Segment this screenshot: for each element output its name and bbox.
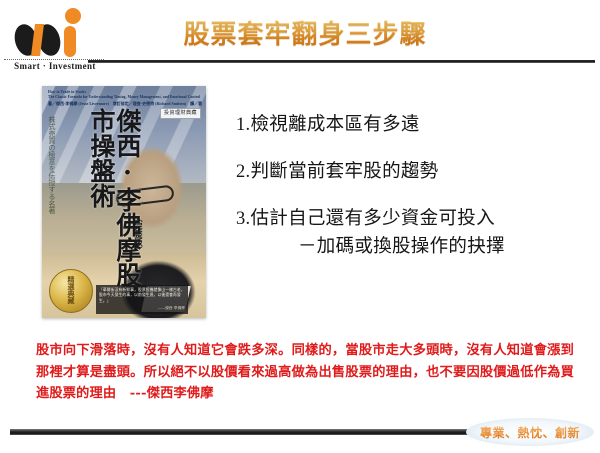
step-subtext: －加碼或換股操作的抉擇 xyxy=(236,235,586,259)
footer-divider xyxy=(10,429,490,435)
list-item: 3.估計自己還有多少資金可投入 －加碼或換股操作的抉擇 xyxy=(236,206,586,259)
step-number: 2. xyxy=(236,162,250,182)
book-english-title-line1: How to Trade in Stocks xyxy=(48,90,86,94)
highlight-quote-attribution: ---傑西李佛摩 xyxy=(116,386,213,401)
footer-slogan-badge: 專業、熱忱、創新 xyxy=(466,418,594,446)
book-gold-seal-icon: 精選典藏 xyxy=(49,269,93,313)
list-item: 1.檢視離成本區有多遠 xyxy=(236,112,586,138)
step-text: 估計自己還有多少資金可投入 xyxy=(250,208,494,229)
step-text: 檢視離成本區有多遠 xyxy=(250,114,419,135)
book-cover-quote-source: ——傑西·李佛摩 xyxy=(99,306,185,311)
wi-logomark-icon xyxy=(4,4,104,60)
book-english-title-line2: The Classic Formula for Understanding Ti… xyxy=(48,95,200,99)
step-text: 判斷當前套牢股的趨勢 xyxy=(250,161,438,182)
slide-title: 股票套牢翻身三步驟 xyxy=(150,14,460,51)
book-cover-image: How to Trade in StocksThe Classic Formul… xyxy=(42,86,206,318)
company-logo: Smart · Investment xyxy=(4,4,104,76)
book-title-main: 傑西·李佛摩股市操盤術 xyxy=(58,108,140,290)
highlight-quote: 股市向下滑落時，沒有人知道它會跌多深。同樣的，當股市走大多頭時，沒有人知道會漲到… xyxy=(36,340,574,405)
book-cover-quote: 「華爾街沒有新鮮事，股票投機就像山一樣古老，股市今天發生的事，以前發生過，以後還… xyxy=(96,285,188,314)
presentation-slide: Smart · Investment 股票套牢翻身三步驟 How to Trad… xyxy=(0,0,600,453)
steps-list: 1.檢視離成本區有多遠 2.判斷當前套牢股的趨勢 3.估計自己還有多少資金可投入… xyxy=(236,112,586,259)
book-title-japanese: 株式売買の極意を伝授する名著 xyxy=(48,116,56,236)
book-cover-quote-text: 「華爾街沒有新鮮事，股票投機就像山一樣古老，股市今天發生的事，以前發生過，以後還… xyxy=(99,288,185,302)
book-badge: 投資理財典藏 xyxy=(160,108,201,119)
book-title-sub: （完整版） xyxy=(134,214,143,272)
step-number: 1. xyxy=(236,115,250,135)
book-seal-label: 精選典藏 xyxy=(67,276,75,306)
book-authors: 著／傑西·李佛摩 (Jesse Livermore) 增訂修定／理查·史密特 (… xyxy=(48,101,202,106)
step-number: 3. xyxy=(236,209,250,229)
list-item: 2.判斷當前套牢股的趨勢 xyxy=(236,159,586,185)
footer-slogan: 專業、熱忱、創新 xyxy=(480,424,580,441)
header-divider xyxy=(88,60,595,63)
book-english-title: How to Trade in StocksThe Classic Formul… xyxy=(48,90,202,99)
